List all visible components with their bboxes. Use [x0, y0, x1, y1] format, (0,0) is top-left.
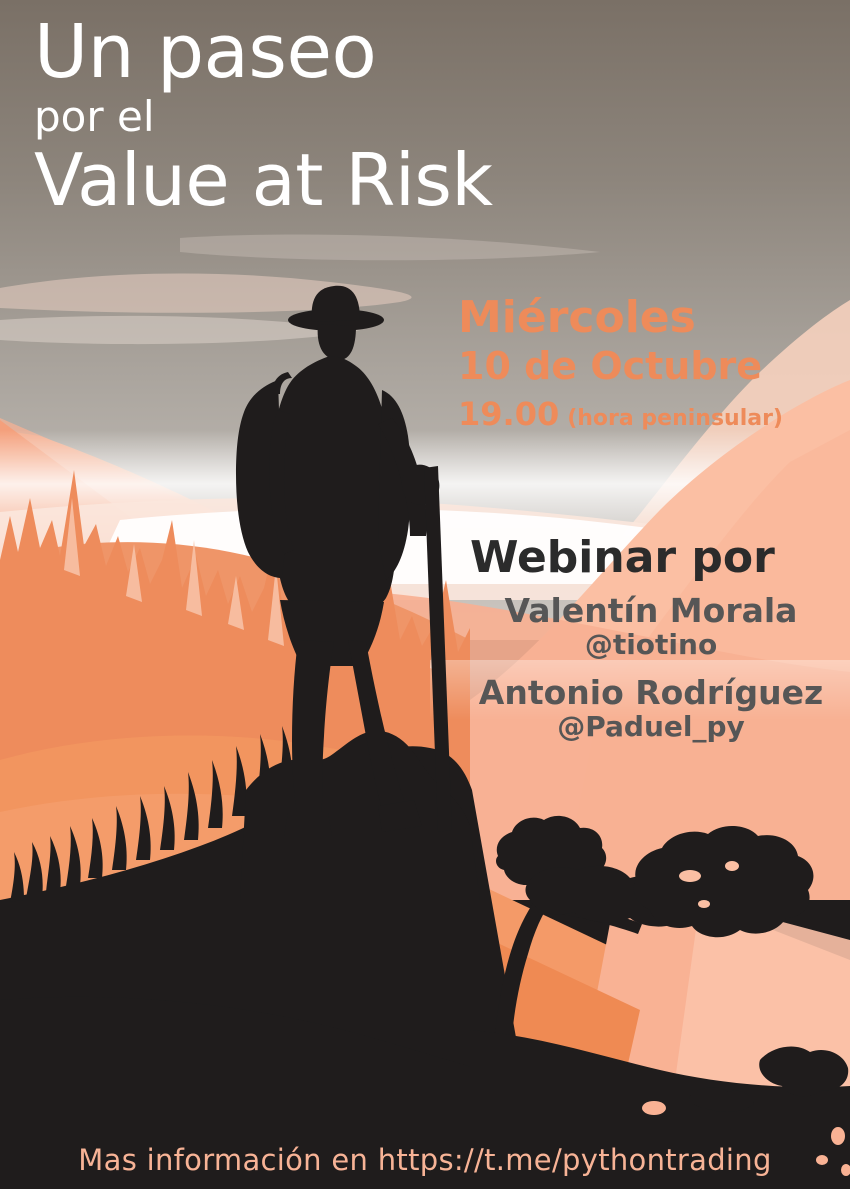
- speaker-1-handle: @tiotino: [452, 629, 850, 660]
- poster-root: Un paseo por el Value at Risk Miércoles …: [0, 0, 850, 1189]
- event-date: 10 de Octubre: [458, 345, 783, 389]
- event-day: Miércoles: [458, 295, 783, 341]
- event-timezone-note: (hora peninsular): [567, 406, 783, 431]
- speaker-2-name: Antonio Rodríguez: [452, 675, 850, 711]
- event-time-row: 19.00 (hora peninsular): [458, 395, 783, 433]
- title-line-2: por el: [34, 92, 493, 142]
- poster-title: Un paseo por el Value at Risk: [34, 18, 493, 216]
- webinar-heading: Webinar por: [452, 535, 850, 581]
- event-time: 19.00: [458, 395, 559, 433]
- title-line-1: Un paseo: [34, 18, 493, 86]
- speaker-2-handle: @Paduel_py: [452, 711, 850, 742]
- webinar-credits: Webinar por Valentín Morala @tiotino Ant…: [452, 535, 850, 743]
- speaker-1-name: Valentín Morala: [452, 593, 850, 629]
- footer-contact[interactable]: Mas información en https://t.me/pythontr…: [0, 1143, 850, 1177]
- event-datetime: Miércoles 10 de Octubre 19.00 (hora peni…: [458, 295, 783, 433]
- speaker-2: Antonio Rodríguez @Paduel_py: [452, 675, 850, 743]
- poster-text-layer: Un paseo por el Value at Risk Miércoles …: [0, 0, 850, 1189]
- title-line-3: Value at Risk: [34, 144, 493, 216]
- speaker-1: Valentín Morala @tiotino: [452, 593, 850, 661]
